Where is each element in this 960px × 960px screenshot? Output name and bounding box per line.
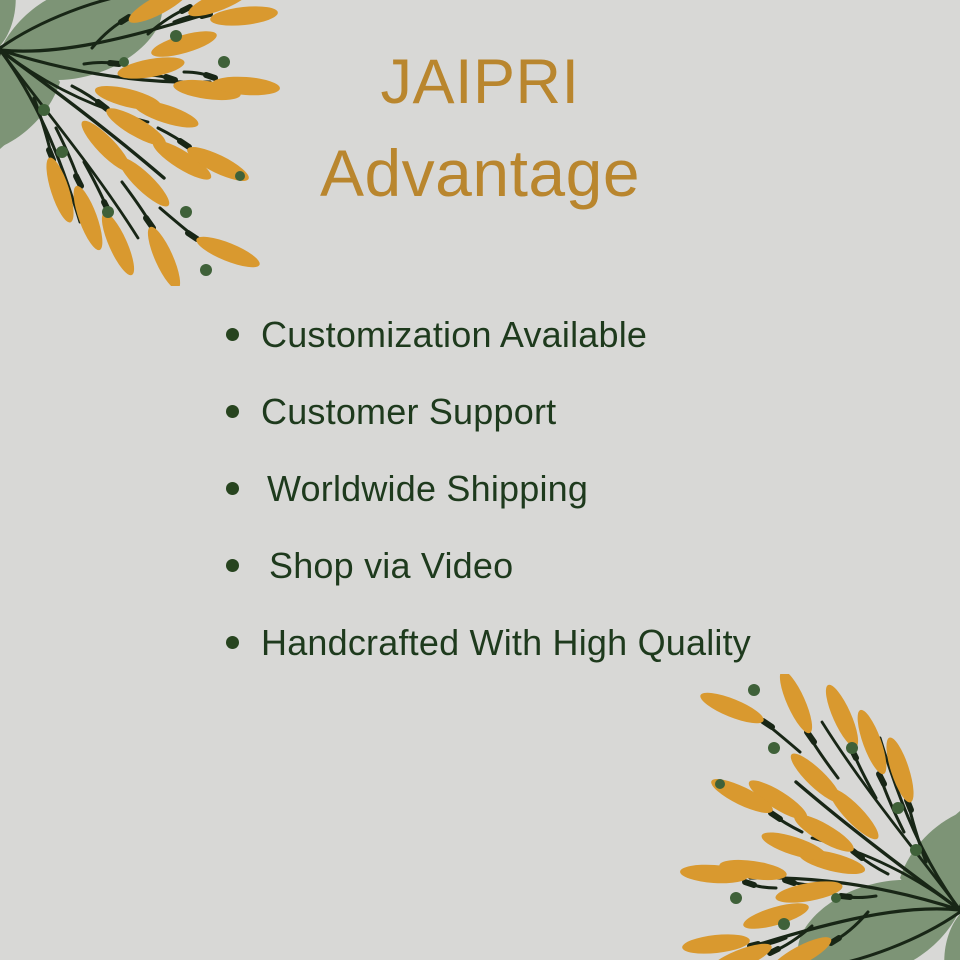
- bud-branches: [679, 674, 926, 960]
- floral-branch-svg: [672, 674, 960, 960]
- bullet-icon: [226, 405, 239, 418]
- title-line-1: JAIPRI: [0, 38, 960, 127]
- bullet-icon: [226, 559, 239, 572]
- advantage-list: Customization Available Customer Support…: [0, 296, 960, 681]
- title-line-2: Advantage: [0, 127, 960, 221]
- list-item-label: Handcrafted With High Quality: [261, 625, 751, 661]
- list-item: Customization Available: [0, 296, 960, 373]
- bullet-icon: [226, 636, 239, 649]
- list-item-label: Customer Support: [261, 394, 556, 430]
- green-leaf-cluster: [798, 786, 960, 960]
- list-item-label: Customization Available: [261, 317, 647, 353]
- accent-dots: [715, 684, 922, 930]
- list-item-label: Shop via Video: [269, 548, 513, 584]
- bullet-icon: [226, 482, 239, 495]
- list-item: Shop via Video: [0, 527, 960, 604]
- bullet-icon: [226, 328, 239, 341]
- list-item-label: Worldwide Shipping: [267, 471, 588, 507]
- poster-canvas: JAIPRI Advantage Customization Available…: [0, 0, 960, 960]
- list-item: Customer Support: [0, 373, 960, 450]
- page-title: JAIPRI Advantage: [0, 38, 960, 221]
- list-item: Worldwide Shipping: [0, 450, 960, 527]
- list-item: Handcrafted With High Quality: [0, 604, 960, 681]
- floral-ornament-bottom-right: [672, 674, 960, 960]
